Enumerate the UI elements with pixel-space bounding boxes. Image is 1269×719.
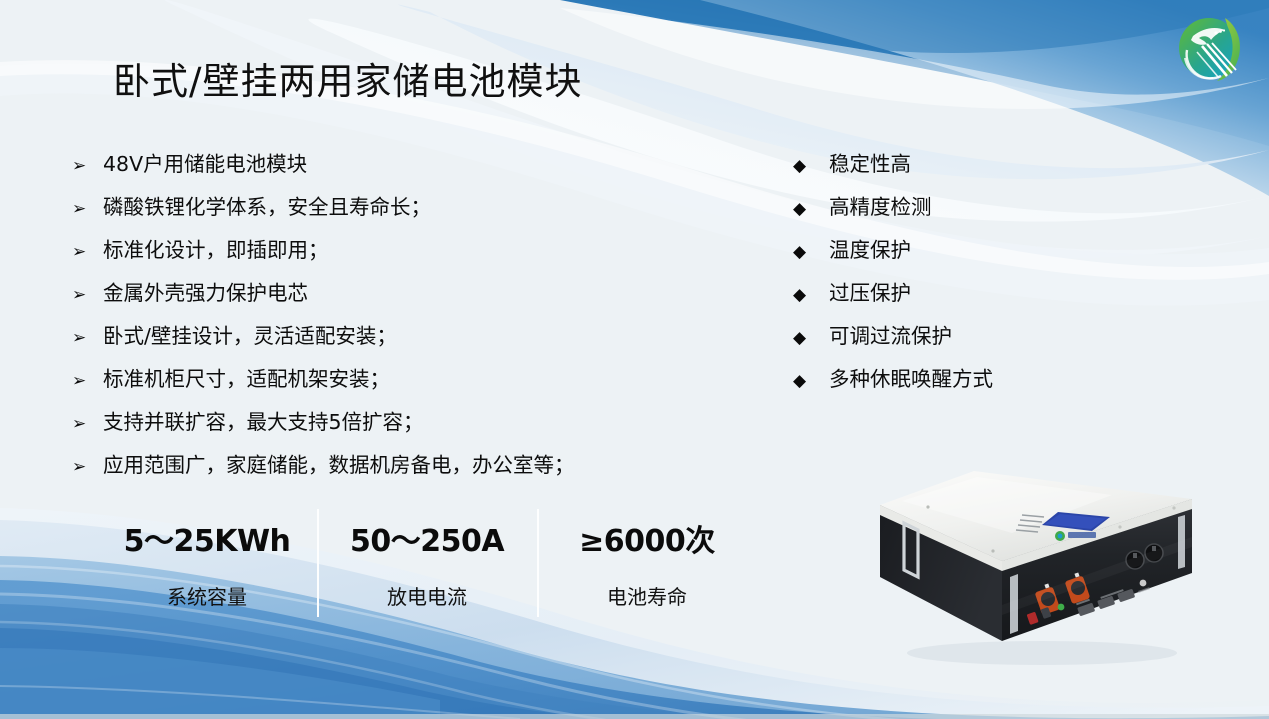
list-item-label: 标准化设计，即插即用；	[103, 238, 329, 263]
features-left-list: ➢ 48V户用储能电池模块 ➢ 磷酸铁锂化学体系，安全且寿命长； ➢ 标准化设计…	[72, 152, 712, 496]
battery-module-illustration	[862, 455, 1206, 670]
diamond-bullet-icon: ◆	[793, 201, 829, 218]
list-item: ◆ 稳定性高	[793, 152, 1123, 195]
battery-module-photo	[862, 455, 1206, 670]
company-logo-icon	[1169, 6, 1253, 90]
arrow-bullet-icon: ➢	[72, 373, 103, 390]
spec-value: ≥6000次	[537, 522, 757, 562]
list-item-label: 48V户用储能电池模块	[103, 152, 307, 177]
key-specs-row: 5～25KWh 系统容量 50～250A 放电电流 ≥6000次 电池寿命	[97, 512, 757, 624]
list-item: ➢ 磷酸铁锂化学体系，安全且寿命长；	[72, 195, 712, 238]
company-logo	[1169, 6, 1253, 90]
diamond-bullet-icon: ◆	[793, 373, 829, 390]
spec-label: 放电电流	[317, 584, 537, 610]
list-item-label: 应用范围广，家庭储能，数据机房备电，办公室等；	[103, 453, 575, 478]
spec-cycle-life: ≥6000次 电池寿命	[537, 512, 757, 624]
spec-label: 系统容量	[97, 584, 317, 610]
list-item: ◆ 可调过流保护	[793, 324, 1123, 367]
list-item-label: 多种休眠唤醒方式	[829, 367, 993, 392]
list-item: ◆ 多种休眠唤醒方式	[793, 367, 1123, 410]
slide-canvas: 卧式/壁挂两用家储电池模块 ➢ 48V户用储能电池模块 ➢ 磷酸铁锂化学体系，安…	[0, 0, 1269, 719]
list-item-label: 支持并联扩容，最大支持5倍扩容；	[103, 410, 424, 435]
list-item-label: 磷酸铁锂化学体系，安全且寿命长；	[103, 195, 431, 220]
list-item-label: 温度保护	[829, 238, 911, 263]
page-title: 卧式/壁挂两用家储电池模块	[113, 58, 582, 106]
list-item-label: 可调过流保护	[829, 324, 952, 349]
list-item-label: 高精度检测	[829, 195, 932, 220]
arrow-bullet-icon: ➢	[72, 158, 103, 175]
list-item: ➢ 金属外壳强力保护电芯	[72, 281, 712, 324]
diamond-bullet-icon: ◆	[793, 287, 829, 304]
list-item: ◆ 温度保护	[793, 238, 1123, 281]
spec-capacity: 5～25KWh 系统容量	[97, 512, 317, 624]
diamond-bullet-icon: ◆	[793, 158, 829, 175]
list-item: ◆ 过压保护	[793, 281, 1123, 324]
list-item: ➢ 支持并联扩容，最大支持5倍扩容；	[72, 410, 712, 453]
spec-value: 50～250A	[317, 522, 537, 562]
arrow-bullet-icon: ➢	[72, 330, 103, 347]
spec-value: 5～25KWh	[97, 522, 317, 562]
arrow-bullet-icon: ➢	[72, 244, 103, 261]
spec-label: 电池寿命	[537, 584, 757, 610]
list-item: ➢ 标准机柜尺寸，适配机架安装；	[72, 367, 712, 410]
diamond-bullet-icon: ◆	[793, 330, 829, 347]
diamond-bullet-icon: ◆	[793, 244, 829, 261]
list-item: ➢ 卧式/壁挂设计，灵活适配安装；	[72, 324, 712, 367]
list-item: ➢ 48V户用储能电池模块	[72, 152, 712, 195]
features-right-list: ◆ 稳定性高 ◆ 高精度检测 ◆ 温度保护 ◆ 过压保护 ◆ 可调过流保护 ◆ …	[793, 152, 1123, 410]
list-item: ➢ 标准化设计，即插即用；	[72, 238, 712, 281]
list-item-label: 金属外壳强力保护电芯	[103, 281, 308, 306]
list-item: ◆ 高精度检测	[793, 195, 1123, 238]
list-item-label: 卧式/壁挂设计，灵活适配安装；	[103, 324, 397, 349]
list-item-label: 稳定性高	[829, 152, 911, 177]
list-item: ➢ 应用范围广，家庭储能，数据机房备电，办公室等；	[72, 453, 712, 496]
arrow-bullet-icon: ➢	[72, 201, 103, 218]
arrow-bullet-icon: ➢	[72, 416, 103, 433]
list-item-label: 标准机柜尺寸，适配机架安装；	[103, 367, 390, 392]
arrow-bullet-icon: ➢	[72, 459, 103, 476]
list-item-label: 过压保护	[829, 281, 911, 306]
spec-discharge-current: 50～250A 放电电流	[317, 512, 537, 624]
arrow-bullet-icon: ➢	[72, 287, 103, 304]
